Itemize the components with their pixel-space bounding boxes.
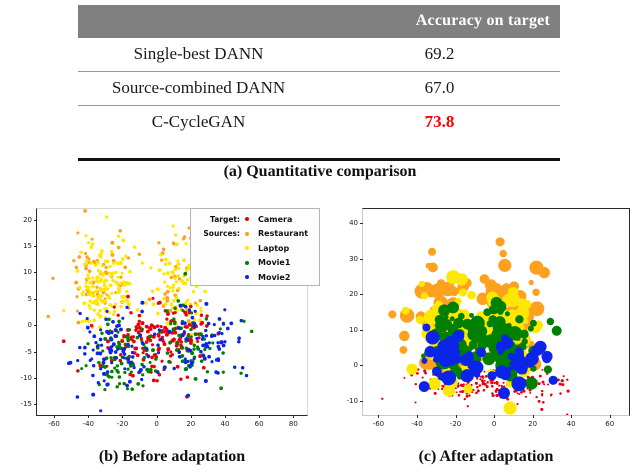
x-tick-label: 20 — [528, 420, 537, 428]
legend-label: Camera — [249, 215, 292, 224]
results-table: Accuracy on target Single-best DANN69.2S… — [78, 5, 560, 139]
legend-item-restaurant: Sources:Restaurant — [195, 227, 315, 242]
x-tick-mark — [54, 415, 55, 418]
y-tick-label: 20 — [337, 290, 358, 298]
x-tick-label: 80 — [289, 420, 298, 428]
caption-quantitative-comparison: (a) Quantitative comparison — [0, 163, 640, 181]
x-tick-mark — [378, 415, 379, 418]
y-tick-label: 0 — [11, 321, 32, 329]
y-tick-label: 30 — [337, 255, 358, 263]
y-tick-label: -10 — [11, 374, 32, 382]
table-cell-method: Single-best DANN — [78, 38, 319, 72]
x-tick-label: 20 — [186, 420, 195, 428]
y-tick-mark — [360, 401, 363, 402]
legend-label: Movie1 — [249, 258, 290, 267]
x-tick-mark — [571, 415, 572, 418]
chart-before-adaptation: 20151050-5-10-15-60-40-20020406080 Targe… — [6, 204, 318, 434]
y-tick-mark — [34, 378, 37, 379]
y-tick-mark — [34, 325, 37, 326]
y-tick-label: 40 — [337, 219, 358, 227]
table-cell-method: Source-combined DANN — [78, 72, 319, 106]
y-tick-mark — [360, 259, 363, 260]
x-tick-mark — [417, 415, 418, 418]
y-tick-label: 10 — [11, 268, 32, 276]
x-tick-mark — [293, 415, 294, 418]
table-bottom-rule — [78, 158, 560, 161]
legend-prefix: Target: — [195, 215, 245, 224]
x-tick-label: -60 — [48, 420, 59, 428]
x-tick-label: 60 — [605, 420, 614, 428]
table-row: Source-combined DANN67.0 — [78, 72, 560, 106]
y-tick-mark — [360, 330, 363, 331]
legend-label: Laptop — [249, 244, 289, 253]
legend-label: Movie2 — [249, 273, 290, 282]
table-row: Single-best DANN69.2 — [78, 38, 560, 72]
y-tick-mark — [34, 246, 37, 247]
x-tick-mark — [259, 415, 260, 418]
y-tick-label: -10 — [337, 397, 358, 405]
x-tick-label: 0 — [154, 420, 158, 428]
x-tick-label: -40 — [83, 420, 94, 428]
table-header-accuracy: Accuracy on target — [319, 5, 560, 38]
x-tick-label: 40 — [567, 420, 576, 428]
table-cell-method: C-CycleGAN — [78, 106, 319, 140]
chart-after-adaptation: 403020100-10-60-40-200204060 — [334, 204, 634, 434]
legend-item-movie1: Movie1 — [195, 256, 315, 271]
caption-before-adaptation: (b) Before adaptation — [22, 448, 322, 466]
y-tick-mark — [34, 299, 37, 300]
y-tick-label: 15 — [11, 242, 32, 250]
legend-prefix: Sources: — [195, 229, 245, 238]
y-tick-label: 5 — [11, 295, 32, 303]
y-tick-mark — [360, 294, 363, 295]
y-tick-mark — [360, 365, 363, 366]
legend-item-movie2: Movie2 — [195, 270, 315, 285]
table-row: C-CycleGAN73.8 — [78, 106, 560, 140]
y-tick-label: -15 — [11, 400, 32, 408]
table-header-blank — [78, 5, 319, 38]
chart-legend: Target:CameraSources:RestaurantLaptopMov… — [190, 208, 320, 286]
x-tick-label: 60 — [255, 420, 264, 428]
plot-area-after — [362, 208, 630, 416]
x-tick-mark — [610, 415, 611, 418]
x-tick-mark — [533, 415, 534, 418]
caption-after-adaptation: (c) After adaptation — [336, 448, 636, 466]
x-tick-label: 0 — [492, 420, 496, 428]
table-body: Single-best DANN69.2Source-combined DANN… — [78, 38, 560, 139]
y-tick-mark — [34, 220, 37, 221]
y-tick-mark — [34, 352, 37, 353]
x-tick-mark — [494, 415, 495, 418]
legend-item-camera: Target:Camera — [195, 212, 315, 227]
x-tick-mark — [157, 415, 158, 418]
table-cell-accuracy: 69.2 — [319, 38, 560, 72]
table-cell-accuracy: 73.8 — [319, 106, 560, 140]
y-tick-label: 10 — [337, 326, 358, 334]
x-tick-mark — [191, 415, 192, 418]
x-tick-label: -20 — [117, 420, 128, 428]
x-tick-mark — [456, 415, 457, 418]
x-tick-mark — [88, 415, 89, 418]
y-tick-label: -5 — [11, 348, 32, 356]
legend-item-laptop: Laptop — [195, 241, 315, 256]
scatter-points-after — [363, 209, 629, 415]
y-tick-label: 0 — [337, 361, 358, 369]
x-tick-mark — [225, 415, 226, 418]
table-cell-accuracy: 67.0 — [319, 72, 560, 106]
x-tick-label: -20 — [450, 420, 461, 428]
y-tick-mark — [34, 272, 37, 273]
x-tick-mark — [122, 415, 123, 418]
table-header-row: Accuracy on target — [78, 5, 560, 38]
y-tick-mark — [34, 404, 37, 405]
y-tick-label: 20 — [11, 216, 32, 224]
x-tick-label: -40 — [411, 420, 422, 428]
x-tick-label: -60 — [373, 420, 384, 428]
y-tick-mark — [360, 223, 363, 224]
x-tick-label: 40 — [221, 420, 230, 428]
legend-label: Restaurant — [249, 229, 308, 238]
